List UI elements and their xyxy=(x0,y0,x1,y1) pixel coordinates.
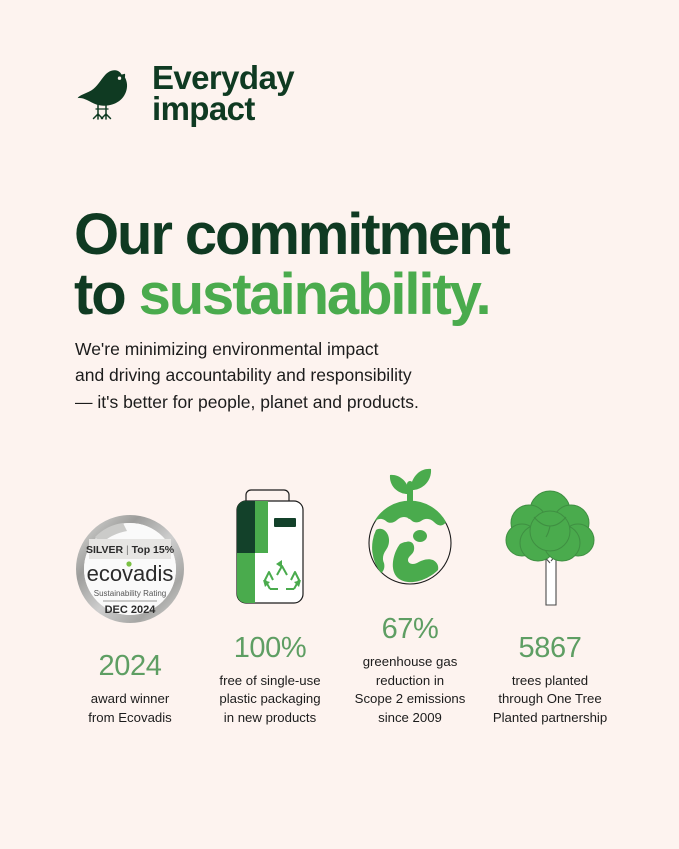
badge-subtitle: Sustainability Rating xyxy=(94,589,166,598)
stat-caption: free of single-use plastic packaging in … xyxy=(219,672,320,728)
stats-row: SILVER | Top 15% ecovadis Sustainability… xyxy=(60,455,620,728)
badge-tier: SILVER | Top 15% xyxy=(86,544,175,556)
stat-caption: greenhouse gas reduction in Scope 2 emis… xyxy=(355,653,466,728)
stat-value: 100% xyxy=(234,634,307,663)
stat-item: 67% greenhouse gas reduction in Scope 2 … xyxy=(340,455,480,728)
tree-icon xyxy=(498,483,602,609)
stat-icon-wrap xyxy=(498,474,602,609)
stat-icon-wrap xyxy=(220,474,320,609)
ecovadis-badge-icon: SILVER | Top 15% ecovadis Sustainability… xyxy=(71,509,189,627)
intro-paragraph: We're minimizing environmental impact an… xyxy=(75,336,545,416)
stat-value: 67% xyxy=(382,615,439,644)
stat-caption: award winner from Ecovadis xyxy=(88,690,172,727)
stat-value: 5867 xyxy=(519,634,582,663)
badge-date: DEC 2024 xyxy=(105,604,157,616)
headline-accent: sustainability. xyxy=(139,262,490,327)
stat-icon-wrap xyxy=(354,455,466,590)
stat-icon-wrap: SILVER | Top 15% ecovadis Sustainability… xyxy=(71,492,189,627)
headline-line-1: Our commitment xyxy=(74,202,509,267)
brand-name: Everyday impact xyxy=(152,62,294,124)
stat-item: 5867 trees planted through One Tree Plan… xyxy=(480,474,620,728)
bird-icon xyxy=(76,62,138,124)
stat-caption: trees planted through One Tree Planted p… xyxy=(493,672,607,728)
page-title: Our commitment to sustainability. xyxy=(74,205,614,324)
stat-item: SILVER | Top 15% ecovadis Sustainability… xyxy=(60,492,200,727)
globe-sprout-icon xyxy=(354,450,466,590)
stat-value: 2024 xyxy=(99,652,162,681)
headline-line-2-prefix: to xyxy=(74,262,139,327)
stat-item: 100% free of single-use plastic packagin… xyxy=(200,474,340,728)
recyclable-packaging-icon xyxy=(220,481,320,609)
brand-logo: Everyday impact xyxy=(76,62,294,124)
sustainability-poster: Everyday impact Our commitment to sustai… xyxy=(0,0,679,849)
